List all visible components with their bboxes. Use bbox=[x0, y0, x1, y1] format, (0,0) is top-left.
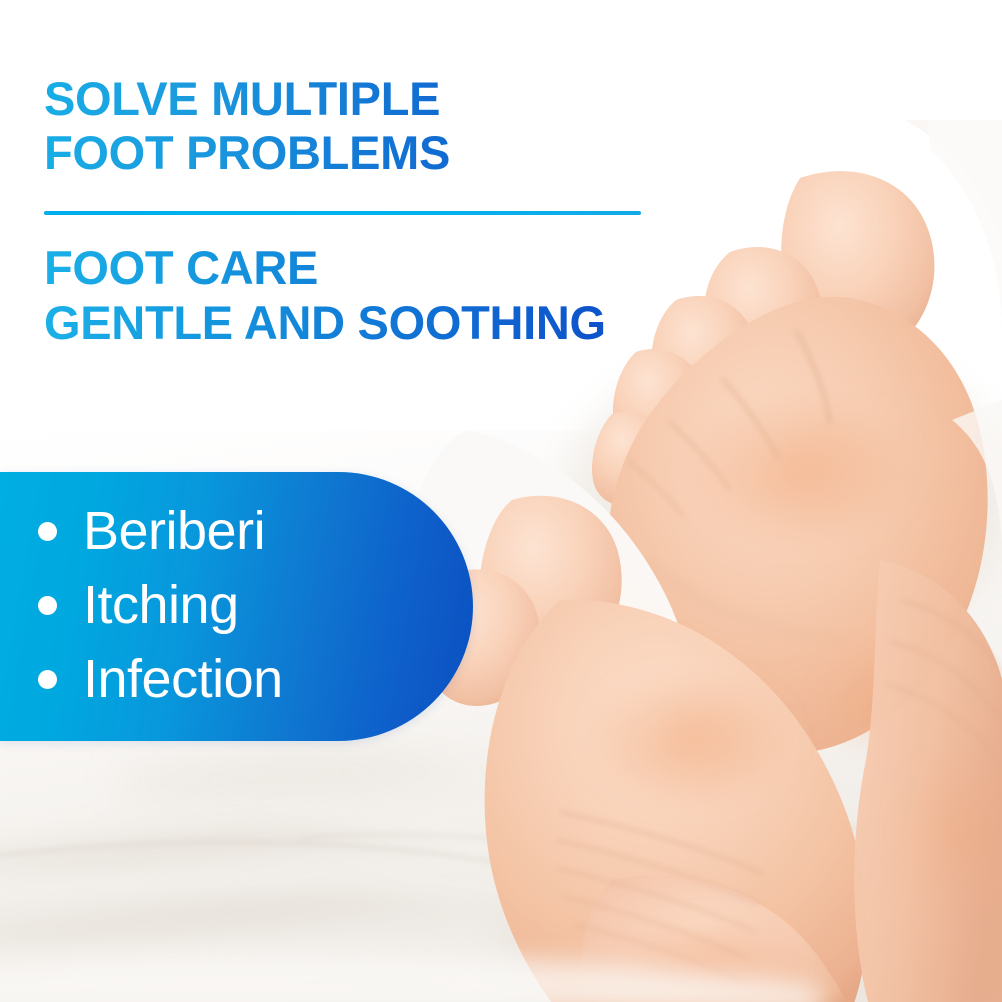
benefit-label: Infection bbox=[83, 651, 283, 707]
bullet-dot-icon bbox=[38, 522, 57, 541]
subheadline: FOOT CARE GENTLE AND SOOTHING bbox=[44, 240, 704, 350]
benefit-label: Beriberi bbox=[83, 503, 265, 559]
benefits-banner: Beriberi Itching Infection bbox=[0, 472, 473, 741]
section-divider bbox=[44, 211, 641, 215]
list-item: Infection bbox=[0, 642, 473, 716]
list-item: Beriberi bbox=[0, 494, 473, 568]
bullet-dot-icon bbox=[38, 670, 57, 689]
headline-block: SOLVE MULTIPLE FOOT PROBLEMS bbox=[44, 72, 684, 180]
subheadline-block: FOOT CARE GENTLE AND SOOTHING bbox=[44, 240, 704, 350]
benefits-list: Beriberi Itching Infection bbox=[0, 472, 473, 716]
product-promo-poster: SOLVE MULTIPLE FOOT PROBLEMS FOOT CARE G… bbox=[0, 0, 1002, 1002]
bullet-dot-icon bbox=[38, 596, 57, 615]
page-title: SOLVE MULTIPLE FOOT PROBLEMS bbox=[44, 72, 684, 180]
benefit-label: Itching bbox=[83, 577, 239, 633]
list-item: Itching bbox=[0, 568, 473, 642]
